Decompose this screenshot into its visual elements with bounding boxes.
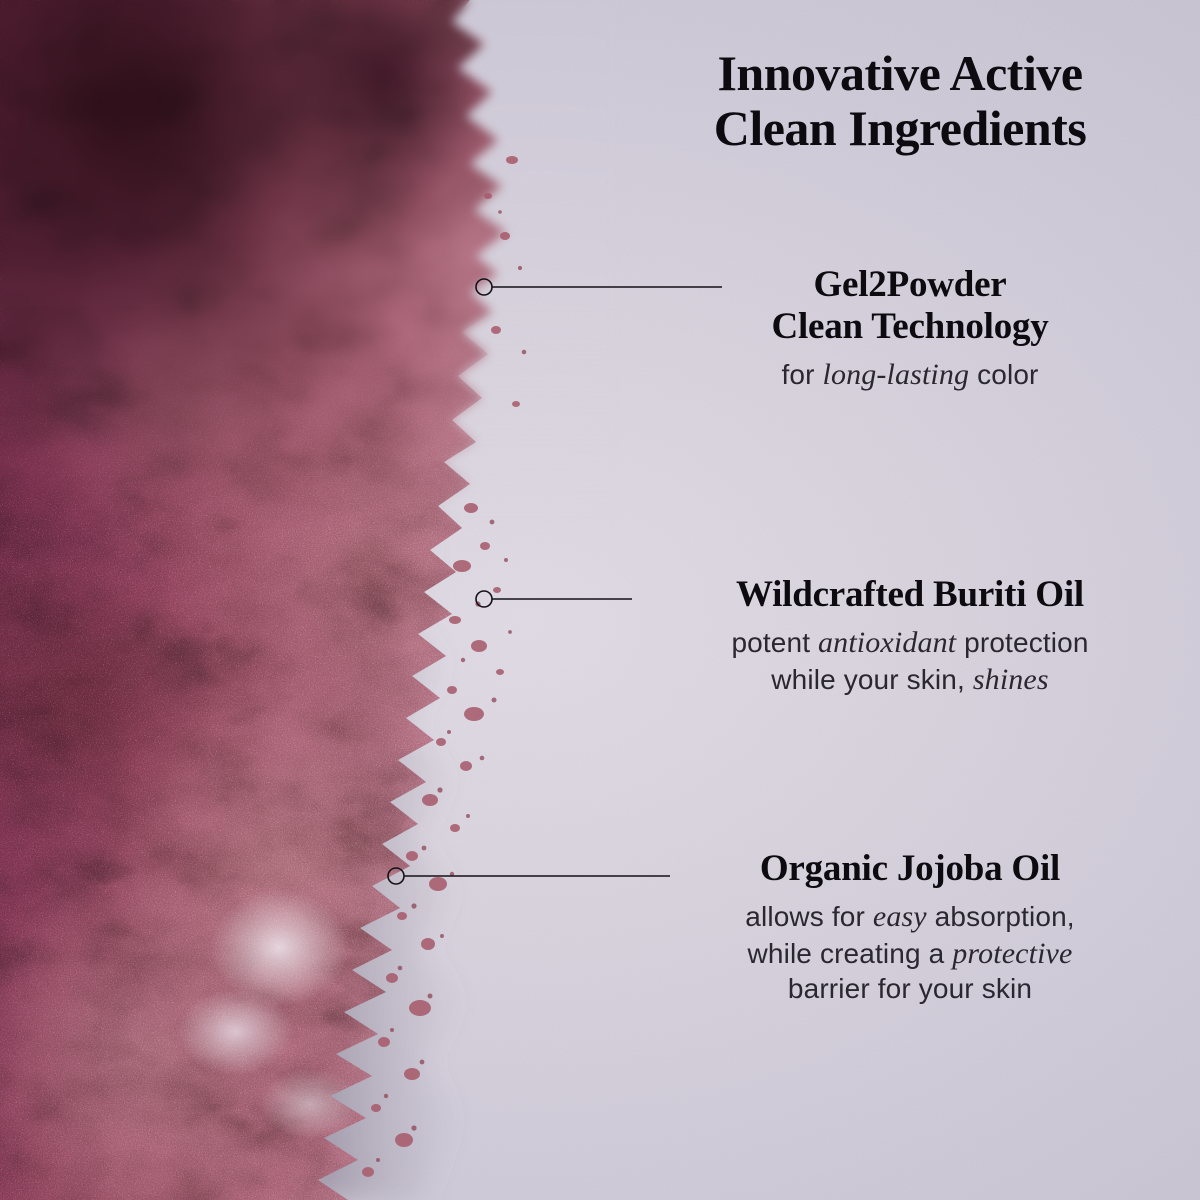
desc-text: absorption, [927,901,1075,932]
desc-text: color [969,359,1038,390]
powder-edge-highlight [0,0,620,1200]
ingredient-description: potent antioxidant protection while your… [620,625,1200,698]
ingredient-title: Wildcrafted Buriti Oil [620,574,1200,616]
ingredient-block-buriti-oil: Wildcrafted Buriti Oil potent antioxidan… [620,574,1200,698]
powder-base-layer [0,0,620,1200]
powder-product-image [0,0,620,1200]
leader-gel2powder-endpoint [476,279,492,295]
desc-emphasis: antioxidant [818,626,956,659]
desc-emphasis: long-lasting [823,358,970,391]
powder-clump-layer [0,0,620,1200]
headline-line-1: Innovative Active [717,45,1082,101]
powder-dust-patch [0,0,620,1200]
ingredient-title-line-1: Gel2Powder [813,264,1006,305]
ingredient-title-line-1: Organic Jojoba Oil [760,848,1060,889]
desc-text: potent [731,627,818,658]
ingredient-title: Organic Jojoba Oil [620,848,1200,890]
powder-defocus-overlay [0,0,620,528]
powder-cast-shadow [300,0,600,1200]
powder-top-shade [0,0,620,1200]
desc-text: while creating a [748,938,953,969]
ingredient-title-line-1: Wildcrafted Buriti Oil [736,574,1084,615]
headline-line-2: Clean Ingredients [714,100,1087,156]
powder-speckle-layer [0,0,620,1200]
ingredient-title: Gel2Powder Clean Technology [620,264,1200,348]
text-column: Innovative Active Clean Ingredients Gel2… [620,0,1200,1200]
desc-text: while your skin, [771,664,973,695]
leader-jojoba-oil-endpoint [388,868,404,884]
desc-emphasis: easy [873,900,927,933]
page-title: Innovative Active Clean Ingredients [620,46,1180,156]
ingredient-title-line-2: Clean Technology [771,306,1048,347]
ingredient-description: allows for easy absorption, while creati… [620,899,1200,1006]
desc-text: protection [956,627,1088,658]
leader-buriti-oil-endpoint [476,591,492,607]
powder-sparkle-layer [0,0,620,1200]
ingredient-block-gel2powder: Gel2Powder Clean Technology for long-las… [620,264,1200,394]
desc-text: barrier for your skin [788,973,1032,1004]
desc-emphasis: protective [952,937,1072,970]
powder-crevice-layer [0,0,620,1200]
ingredient-block-jojoba-oil: Organic Jojoba Oil allows for easy absor… [620,848,1200,1007]
desc-emphasis: shines [973,663,1049,696]
ingredient-description: for long-lasting color [620,357,1200,394]
desc-text: allows for [745,901,873,932]
powder-scatter-crumbs [0,0,620,1200]
ingredient-infographic: Innovative Active Clean Ingredients Gel2… [0,0,1200,1200]
desc-text: for [781,359,822,390]
